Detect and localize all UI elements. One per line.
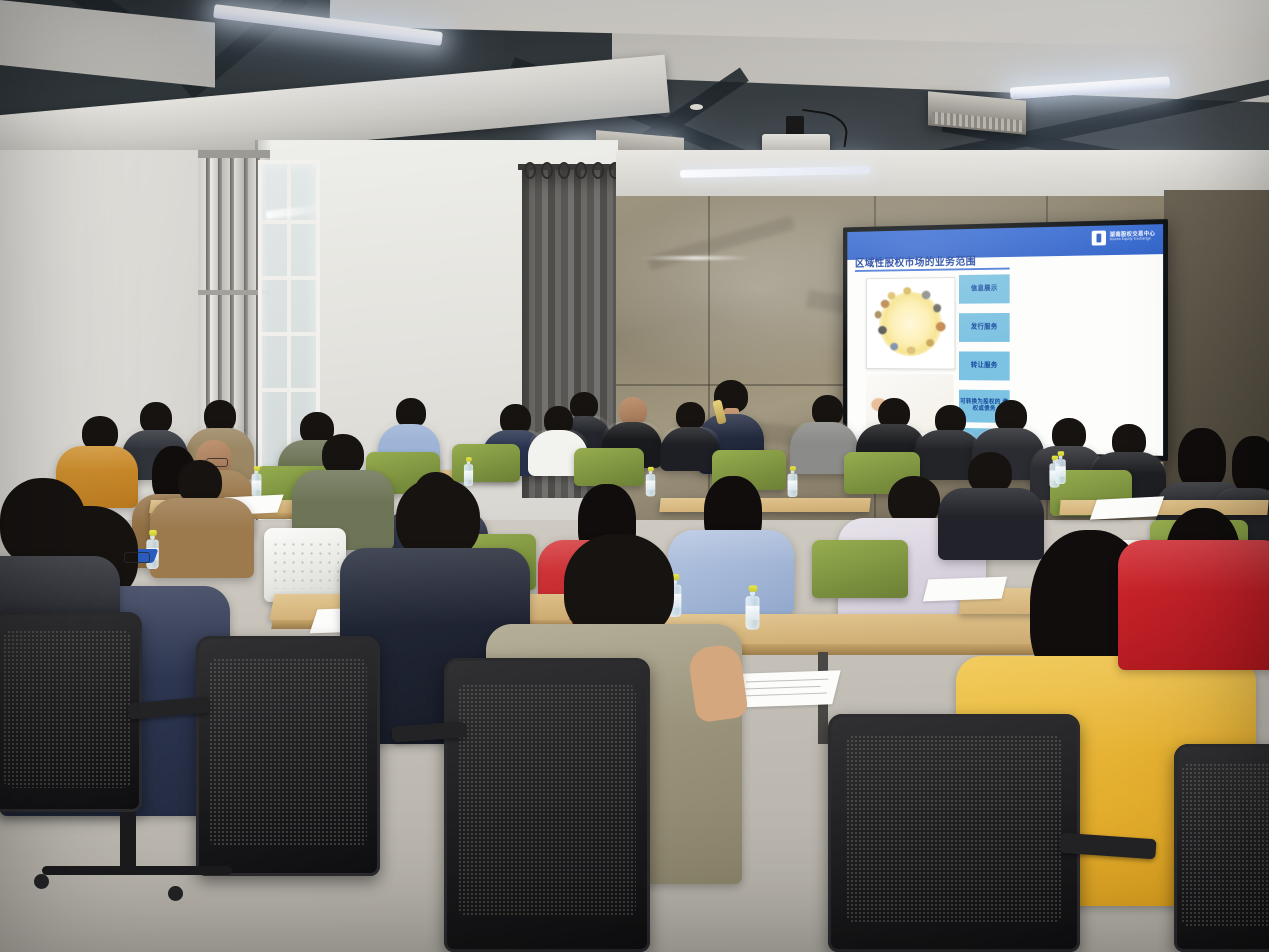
- conference-room-photo: 湖南股权交易中心 Hunan Equity Exchange 区域性股权市场的业…: [0, 0, 1269, 952]
- slide-box-3: 转让服务: [959, 351, 1010, 380]
- green-chair[interactable]: [452, 444, 520, 482]
- document-mark-icon: [1092, 230, 1106, 245]
- water-bottle[interactable]: [252, 467, 262, 497]
- partition-track: [198, 150, 270, 158]
- paper-handout[interactable]: [731, 670, 840, 707]
- chair-caster: [168, 886, 183, 901]
- chair-caster: [34, 874, 49, 889]
- chair-base: [42, 866, 232, 875]
- water-bottle[interactable]: [745, 586, 759, 629]
- slide-illustration-circle: [866, 277, 955, 370]
- paper-handout[interactable]: [923, 577, 1007, 602]
- water-bottle[interactable]: [464, 458, 473, 486]
- black-task-chair[interactable]: [196, 636, 380, 876]
- black-task-chair[interactable]: [1174, 744, 1269, 952]
- black-task-chair[interactable]: [828, 714, 1080, 952]
- table-mid-center: [659, 498, 870, 512]
- chair-post: [120, 812, 136, 874]
- green-chair[interactable]: [574, 448, 644, 486]
- slide-box-1: 信息展示: [959, 274, 1010, 303]
- green-chair[interactable]: [812, 540, 908, 598]
- logo-name-en: Hunan Equity Exchange: [1110, 238, 1156, 243]
- slide-logo: 湖南股权交易中心 Hunan Equity Exchange: [1092, 229, 1156, 245]
- black-task-chair[interactable]: [0, 612, 142, 812]
- table-mid-right: [1059, 500, 1268, 515]
- water-bottle[interactable]: [646, 468, 655, 497]
- slide-box-2: 发行服务: [959, 313, 1010, 342]
- water-bottle[interactable]: [788, 467, 798, 497]
- paper-handout[interactable]: [1090, 496, 1164, 519]
- black-task-chair[interactable]: [444, 658, 650, 952]
- water-bottle[interactable]: [1055, 452, 1065, 484]
- smoke-detector-icon: [690, 104, 703, 110]
- white-chair[interactable]: [264, 528, 346, 602]
